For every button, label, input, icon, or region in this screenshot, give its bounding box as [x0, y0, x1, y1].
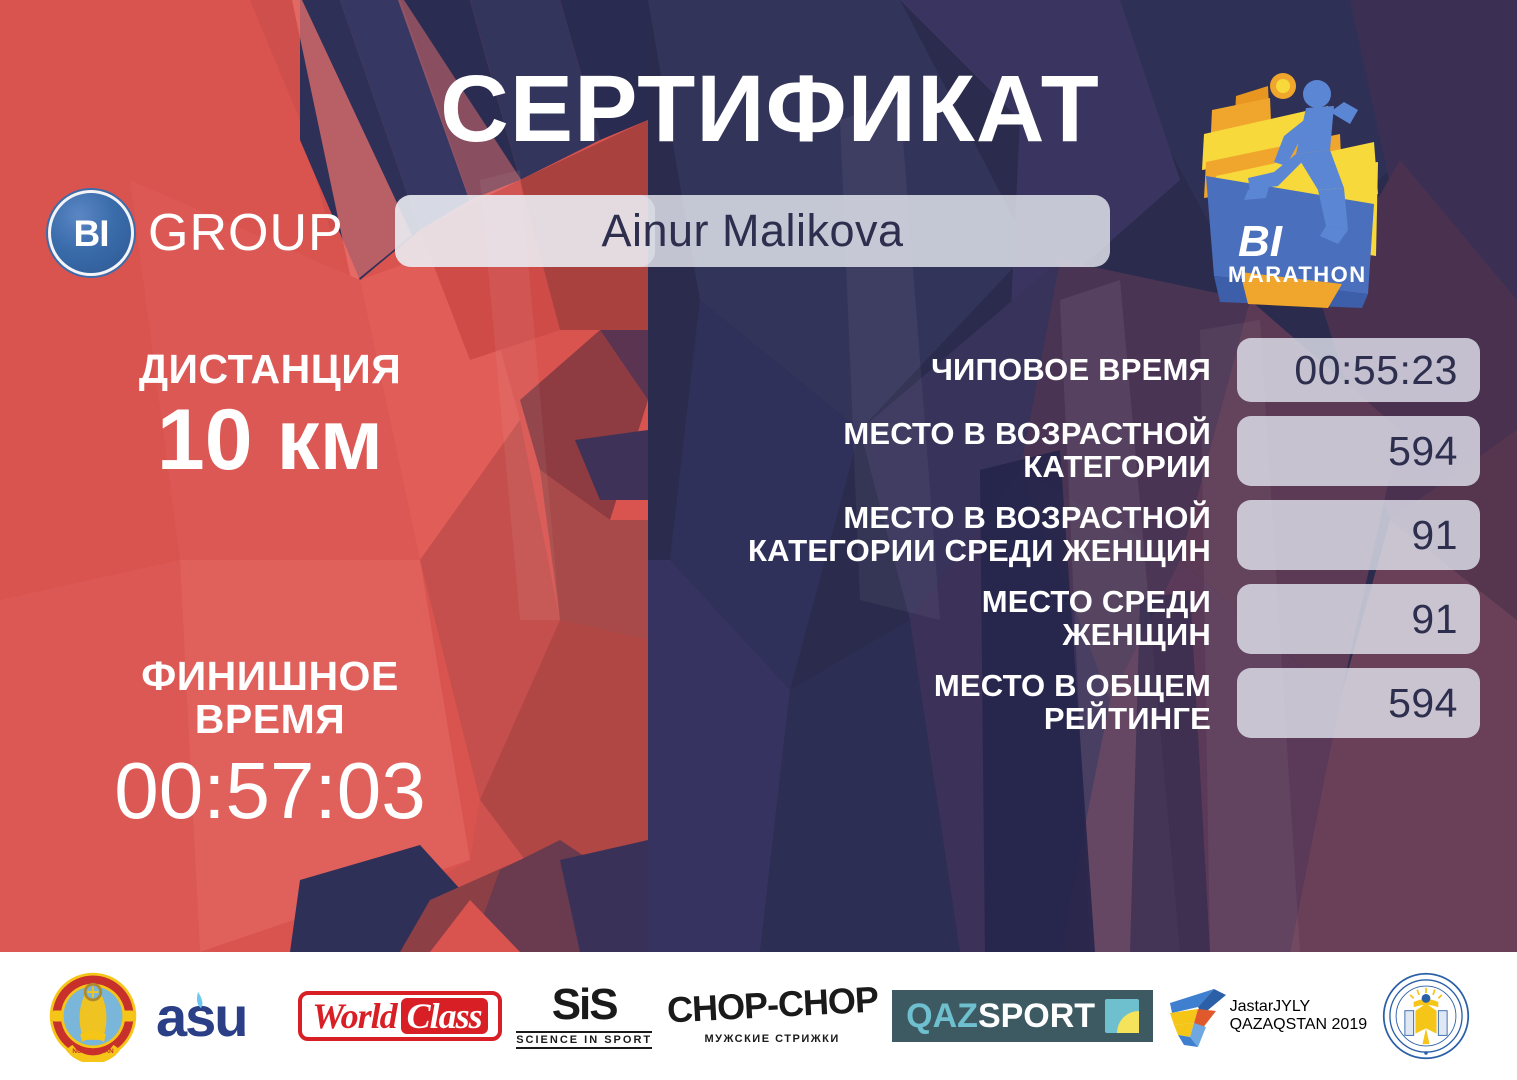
jastar-text-block: JastarJYLY QAZAQSTAN 2019 — [1230, 998, 1368, 1034]
distance-value: 10 км — [20, 395, 520, 485]
qazsport-mark-icon — [1105, 999, 1139, 1033]
distance-label: ДИСТАНЦИЯ — [20, 348, 520, 391]
jastar-name: JastarJYLY — [1230, 998, 1368, 1016]
certificate-canvas: BI GROUP СЕРТИФИКАТ Ainur Malikova — [0, 0, 1517, 1080]
qazsport-word-a: QAZ — [906, 997, 978, 1035]
participant-name: Ainur Malikova — [601, 205, 903, 257]
stat-value-age-category-place: 594 — [1388, 428, 1458, 475]
stat-row-overall-place: МЕСТО В ОБЩЕМ РЕЙТИНГЕ 594 — [520, 668, 1480, 738]
world-class-logo-icon: World Class — [298, 991, 501, 1041]
stat-label-line1: ЧИПОВОЕ ВРЕМЯ — [520, 354, 1211, 387]
sponsor-jastar-jyly: JastarJYLY QAZAQSTAN 2019 — [1168, 968, 1368, 1064]
chop-chop-tagline: МУЖСКИЕ СТРИЖКИ — [704, 1033, 839, 1045]
page-title: СЕРТИФИКАТ — [390, 62, 1150, 157]
asu-text: asu — [156, 985, 247, 1048]
world-class-word-a: World — [312, 998, 396, 1034]
nur-sultan-emblem-icon: NUR-SULTAN — [47, 970, 139, 1062]
stat-label-line2: ЖЕНЩИН — [520, 619, 1211, 652]
asu-logo-icon: asu — [154, 984, 284, 1048]
stat-row-age-category-place: МЕСТО В ВОЗРАСТНОЙ КАТЕГОРИИ 594 — [520, 416, 1480, 486]
stat-pill-age-category-women-place: 91 — [1237, 500, 1480, 570]
stat-value-age-category-women-place: 91 — [1411, 512, 1458, 559]
sis-word: SiS — [552, 983, 617, 1027]
jastar-subtitle: QAZAQSTAN 2019 — [1230, 1016, 1368, 1034]
marathon-word-text: MARATHON — [1228, 262, 1367, 287]
sponsor-asu: asu — [154, 968, 284, 1064]
stat-pill-women-place: 91 — [1237, 584, 1480, 654]
stat-row-chip-time: ЧИПОВОЕ ВРЕМЯ 00:55:23 — [520, 338, 1480, 402]
sponsor-ministry-sport — [1382, 968, 1470, 1064]
finish-time-block: ФИНИШНОЕ ВРЕМЯ 00:57:03 — [20, 655, 520, 833]
stat-label-line2: РЕЙТИНГЕ — [520, 703, 1211, 736]
sponsor-world-class: World Class — [298, 968, 501, 1064]
bi-badge-icon: BI — [48, 190, 134, 276]
world-class-word-b: Class — [401, 998, 488, 1034]
bi-group-word: GROUP — [148, 203, 344, 263]
stat-row-age-category-women-place: МЕСТО В ВОЗРАСТНОЙ КАТЕГОРИИ СРЕДИ ЖЕНЩИ… — [520, 500, 1480, 570]
qazsport-word-b: SPORT — [978, 997, 1095, 1035]
chop-chop-word: CHOP-CHOP — [666, 982, 879, 1029]
ministry-sport-seal-icon — [1382, 972, 1470, 1060]
stat-value-women-place: 91 — [1411, 596, 1458, 643]
bi-badge-text: BI — [74, 215, 109, 252]
bi-marathon-emblem-icon: BI MARATHON — [1178, 58, 1398, 308]
stat-label-line1: МЕСТО В ВОЗРАСТНОЙ — [520, 502, 1211, 535]
participant-name-field: Ainur Malikova — [395, 195, 1110, 267]
sis-logo-icon: SiS SCIENCE IN SPORT — [516, 983, 652, 1049]
jastar-arrow-icon — [1168, 981, 1230, 1051]
stat-label-line2: КАТЕГОРИИ — [520, 451, 1211, 484]
stats-list: ЧИПОВОЕ ВРЕМЯ 00:55:23 МЕСТО В ВОЗРАСТНО… — [520, 338, 1480, 752]
stat-row-women-place: МЕСТО СРЕДИ ЖЕНЩИН 91 — [520, 584, 1480, 654]
sis-tagline: SCIENCE IN SPORT — [516, 1031, 652, 1049]
sponsor-bar: NUR-SULTAN asu World Class SiS SCIENCE I… — [0, 952, 1517, 1080]
sponsor-nur-sultan: NUR-SULTAN — [47, 968, 139, 1064]
jastar-jyly-word: JYLY — [1273, 998, 1310, 1015]
chop-chop-logo-icon: CHOP-CHOP МУЖСКИЕ СТРИЖКИ — [667, 987, 878, 1045]
finish-time-value: 00:57:03 — [20, 749, 520, 833]
finish-time-label-line2: ВРЕМЯ — [20, 698, 520, 741]
stat-value-chip-time: 00:55:23 — [1294, 347, 1458, 394]
nur-sultan-label: NUR-SULTAN — [73, 1048, 115, 1055]
bi-marathon-logo: BI MARATHON — [1178, 58, 1398, 308]
sponsor-qazsport: QAZSPORT — [892, 968, 1153, 1064]
stat-label-line2: КАТЕГОРИИ СРЕДИ ЖЕНЩИН — [520, 535, 1211, 568]
stat-pill-overall-place: 594 — [1237, 668, 1480, 738]
stat-label-age-category-place: МЕСТО В ВОЗРАСТНОЙ КАТЕГОРИИ — [520, 418, 1237, 484]
qazsport-logo-icon: QAZSPORT — [892, 990, 1153, 1042]
distance-block: ДИСТАНЦИЯ 10 км — [20, 348, 520, 485]
stat-value-overall-place: 594 — [1388, 680, 1458, 727]
stat-label-line1: МЕСТО В ОБЩЕМ — [520, 670, 1211, 703]
sponsor-sis: SiS SCIENCE IN SPORT — [516, 968, 652, 1064]
stat-pill-chip-time: 00:55:23 — [1237, 338, 1480, 402]
stat-label-women-place: МЕСТО СРЕДИ ЖЕНЩИН — [520, 586, 1237, 652]
stat-label-chip-time: ЧИПОВОЕ ВРЕМЯ — [520, 354, 1237, 387]
qazsport-wordmark: QAZSPORT — [906, 999, 1095, 1033]
marathon-bi-text: BI — [1238, 217, 1283, 266]
finish-time-label-line1: ФИНИШНОЕ — [20, 655, 520, 698]
bi-group-logo: BI GROUP — [48, 190, 344, 276]
stat-label-line1: МЕСТО СРЕДИ — [520, 586, 1211, 619]
stat-label-age-category-women-place: МЕСТО В ВОЗРАСТНОЙ КАТЕГОРИИ СРЕДИ ЖЕНЩИ… — [520, 502, 1237, 568]
stat-label-overall-place: МЕСТО В ОБЩЕМ РЕЙТИНГЕ — [520, 670, 1237, 736]
stat-pill-age-category-place: 594 — [1237, 416, 1480, 486]
stat-label-line1: МЕСТО В ВОЗРАСТНОЙ — [520, 418, 1211, 451]
sponsor-chop-chop: CHOP-CHOP МУЖСКИЕ СТРИЖКИ — [667, 968, 878, 1064]
